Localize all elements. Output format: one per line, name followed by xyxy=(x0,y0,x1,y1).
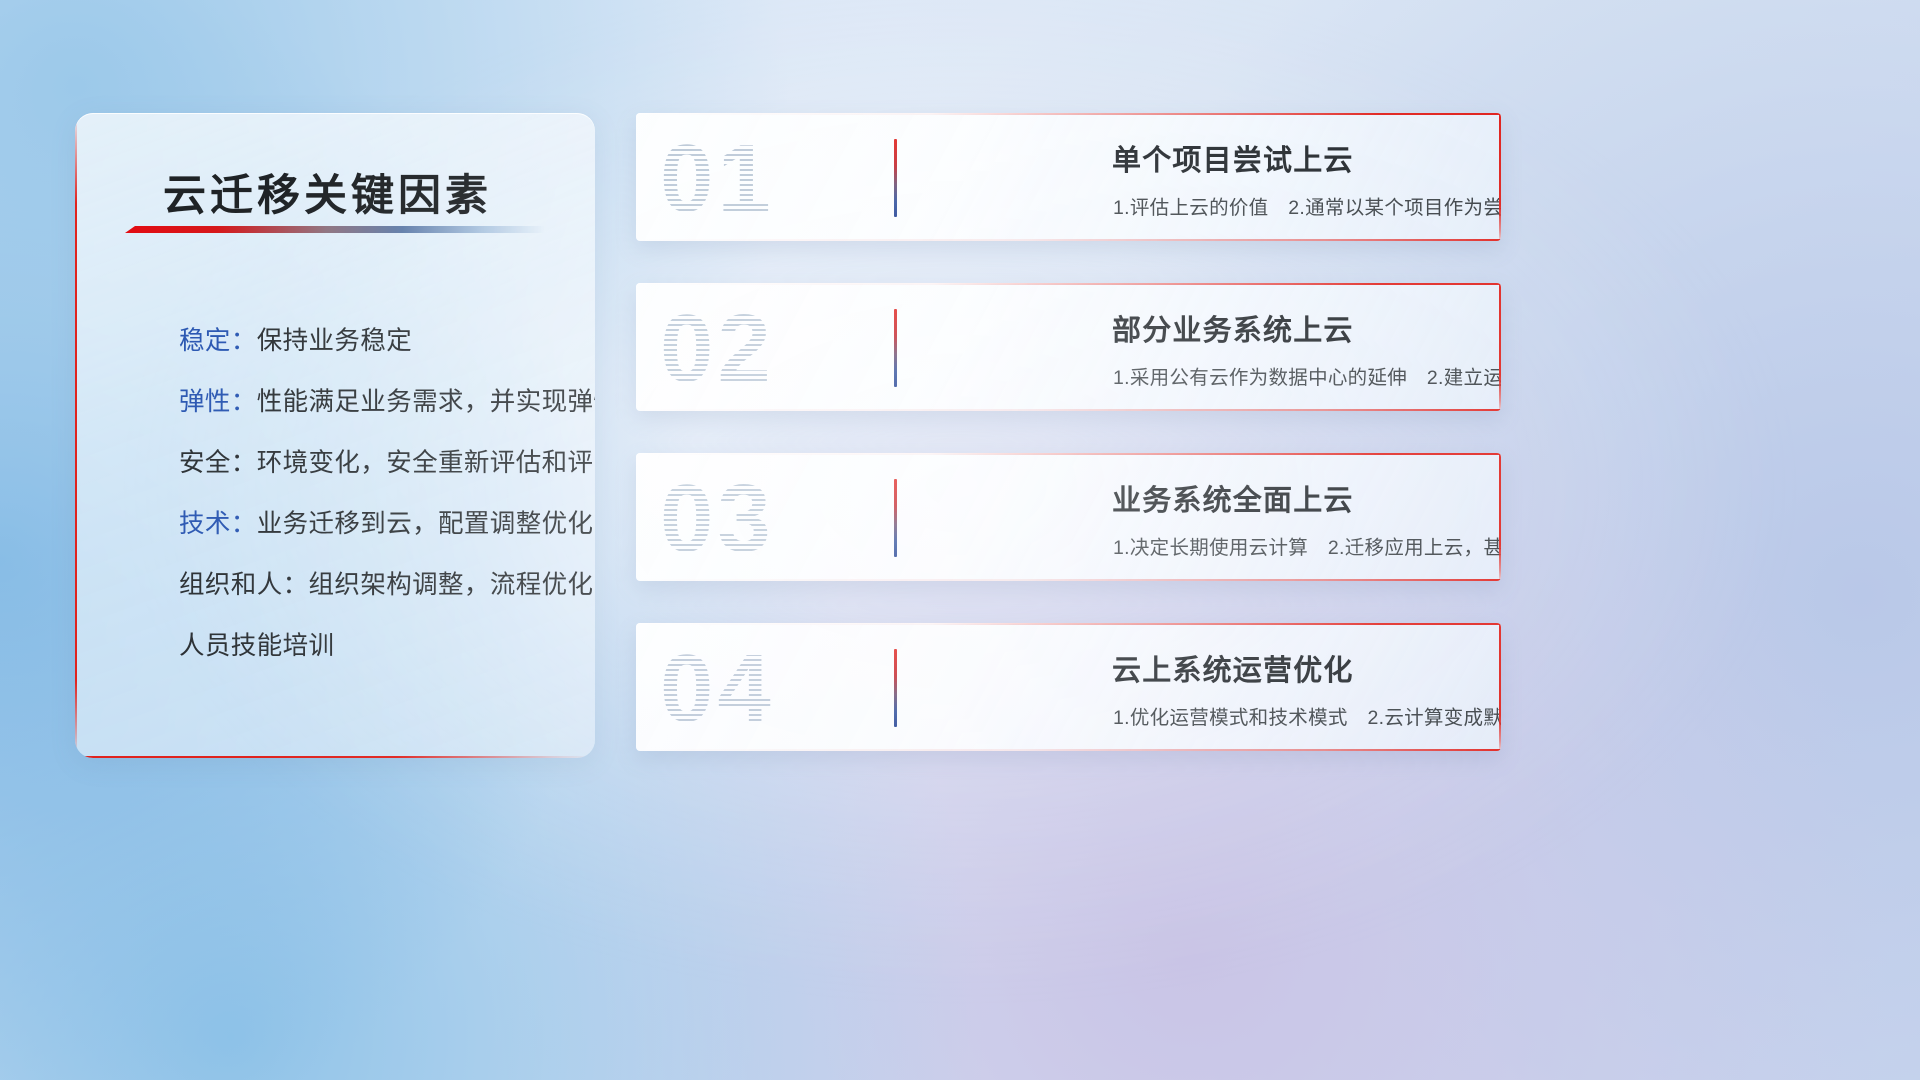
key-factor-row: 人员技能培训 xyxy=(179,616,569,677)
stage-card-title: 部分业务系统上云 xyxy=(1112,307,1354,349)
stage-card[interactable]: 02部分业务系统上云1.采用公有云作为数据中心的延伸 2.建立运营和安全规范 xyxy=(636,283,1501,411)
key-factors-list: 稳定：保持业务稳定弹性：性能满足业务需求，并实现弹性安全：环境变化，安全重新评估… xyxy=(179,311,569,677)
stage-number-watermark: 02 xyxy=(660,299,875,399)
accent-divider xyxy=(894,309,897,387)
key-factors-panel: 云迁移关键因素 稳定：保持业务稳定弹性：性能满足业务需求，并实现弹性安全：环境变… xyxy=(75,113,595,758)
key-factor-label: 技术： xyxy=(179,510,257,538)
key-factor-label: 安全： xyxy=(179,449,257,477)
key-factor-row: 安全：环境变化，安全重新评估和评审 xyxy=(179,433,569,494)
key-factor-label: 组织和人： xyxy=(179,571,309,599)
stage-number-watermark: 01 xyxy=(660,129,875,229)
card-bottom-accent xyxy=(636,239,1501,241)
key-factor-value: 人员技能培训 xyxy=(179,632,334,660)
stage-card-description: 1.优化运营模式和技术模式 2.云计算变成默认选项 xyxy=(1113,701,1501,730)
card-bottom-accent xyxy=(636,749,1501,751)
stage-card[interactable]: 03业务系统全面上云1.决定长期使用云计算 2.迁移应用上云，甚至包括核心应用 xyxy=(636,453,1501,581)
stage-card-title: 云上系统运营优化 xyxy=(1112,647,1354,689)
title-underline-rule xyxy=(125,226,545,233)
key-factor-value: 性能满足业务需求，并实现弹性 xyxy=(257,388,595,416)
stage-card-list: 01单个项目尝试上云1.评估上云的价值 2.通常以某个项目作为尝试02部分业务系… xyxy=(636,113,1501,793)
stage-card-description: 1.评估上云的价值 2.通常以某个项目作为尝试 xyxy=(1113,191,1501,220)
stage-number-watermark: 04 xyxy=(660,639,875,739)
key-factor-row: 稳定：保持业务稳定 xyxy=(179,311,569,372)
stage-card-title: 业务系统全面上云 xyxy=(1112,477,1354,519)
stage-card[interactable]: 04云上系统运营优化1.优化运营模式和技术模式 2.云计算变成默认选项 xyxy=(636,623,1501,751)
key-factor-value: 业务迁移到云，配置调整优化 xyxy=(257,510,594,538)
key-factor-label: 稳定： xyxy=(179,327,257,355)
card-bottom-accent xyxy=(636,409,1501,411)
key-factor-row: 技术：业务迁移到云，配置调整优化 xyxy=(179,494,569,555)
key-factor-label: 弹性： xyxy=(179,388,257,416)
stage-card-text: 单个项目尝试上云1.评估上云的价值 2.通常以某个项目作为尝试 xyxy=(918,113,1501,241)
key-factor-row: 弹性：性能满足业务需求，并实现弹性 xyxy=(179,372,569,433)
key-factor-value: 保持业务稳定 xyxy=(257,327,412,355)
stage-card-description: 1.决定长期使用云计算 2.迁移应用上云，甚至包括核心应用 xyxy=(1113,531,1501,560)
card-bottom-accent xyxy=(636,579,1501,581)
stage-card-text: 部分业务系统上云1.采用公有云作为数据中心的延伸 2.建立运营和安全规范 xyxy=(918,283,1501,411)
key-factor-value: 组织架构调整，流程优化， xyxy=(309,571,595,599)
key-factor-value: 环境变化，安全重新评估和评审 xyxy=(257,449,595,477)
accent-divider xyxy=(894,649,897,727)
slide-canvas: 云迁移关键因素 稳定：保持业务稳定弹性：性能满足业务需求，并实现弹性安全：环境变… xyxy=(0,0,1920,1080)
stage-card-title: 单个项目尝试上云 xyxy=(1112,137,1354,179)
stage-number-watermark: 03 xyxy=(660,469,875,569)
accent-divider xyxy=(894,479,897,557)
page-title: 云迁移关键因素 xyxy=(163,161,492,223)
accent-divider xyxy=(894,139,897,217)
stage-card-text: 业务系统全面上云1.决定长期使用云计算 2.迁移应用上云，甚至包括核心应用 xyxy=(918,453,1501,581)
stage-card[interactable]: 01单个项目尝试上云1.评估上云的价值 2.通常以某个项目作为尝试 xyxy=(636,113,1501,241)
stage-card-description: 1.采用公有云作为数据中心的延伸 2.建立运营和安全规范 xyxy=(1113,361,1501,390)
key-factor-row: 组织和人：组织架构调整，流程优化， xyxy=(179,555,569,616)
stage-card-text: 云上系统运营优化1.优化运营模式和技术模式 2.云计算变成默认选项 xyxy=(918,623,1501,751)
